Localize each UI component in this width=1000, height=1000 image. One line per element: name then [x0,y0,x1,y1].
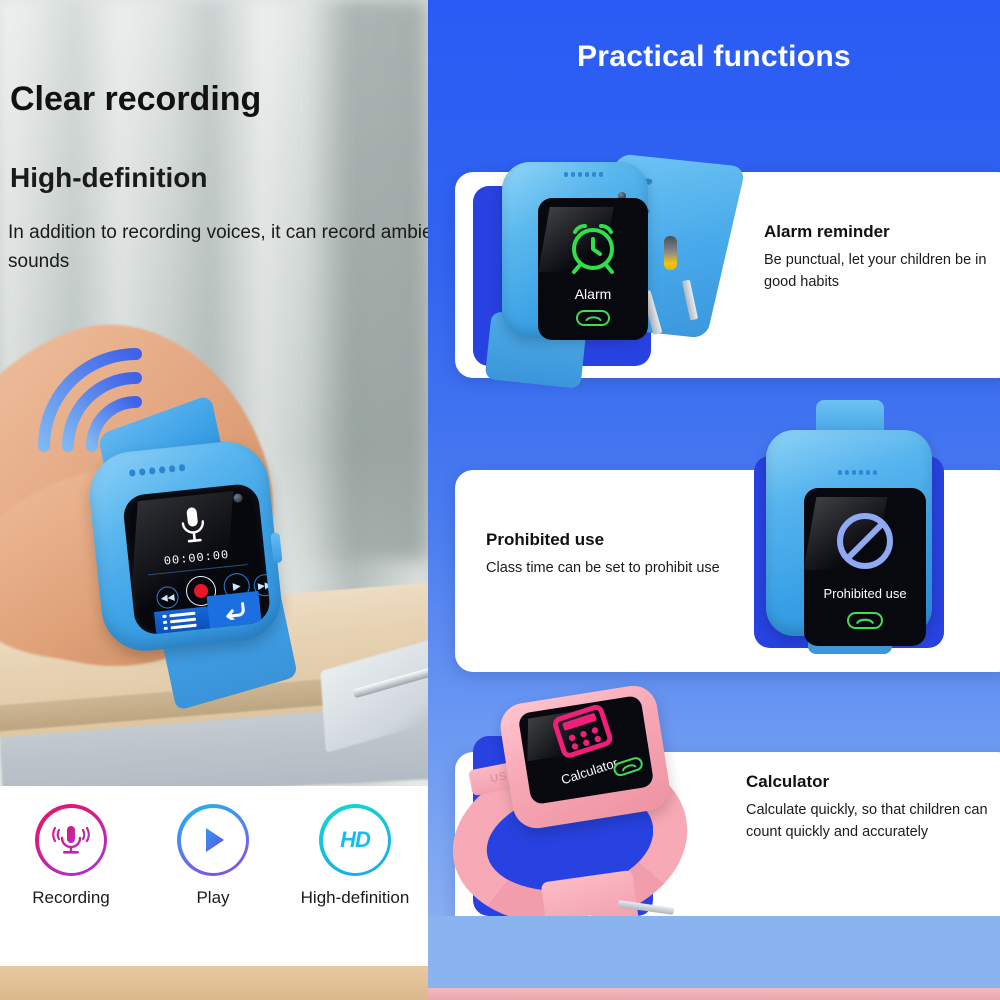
feature-high-definition[interactable]: HD High-definition [284,804,426,908]
feature-play[interactable]: Play [142,804,284,908]
watch-calculator: USB [436,690,716,950]
card-title: Calculator [746,772,1000,792]
feature-icon-list: Recording [0,804,428,954]
wall-shadow [308,0,428,560]
page-body-text: In addition to recording voices, it can … [8,218,428,277]
practical-functions-title: Practical functions [428,40,1000,74]
watch-lug-top [816,400,884,434]
watch-case: Alarm [502,162,648,338]
page-title: Clear recording [10,80,261,119]
watch-screen-label: Alarm [538,286,648,302]
watch-screen-alarm[interactable]: Alarm [538,198,648,340]
card-description: Calculate quickly, so that children can … [746,800,1000,844]
bottom-pink-strip [428,988,1000,1000]
card-description: Class time can be set to prohibit use [486,558,726,580]
feature-label: High-definition [284,888,426,908]
watch-screen-recording[interactable]: 00:00:00 ◀◀ ▶ ▶▶ [122,483,272,636]
watch-alarm: Alarm [480,140,710,378]
wrist-watch-recording: 00:00:00 ◀◀ ▶ ▶▶ [70,408,307,698]
speaker-grille-icon [129,463,191,476]
hd-icon: HD [319,804,391,876]
right-panel-practical-functions: Practical functions [428,0,1000,1000]
watch-prohibited: Prohibited use [750,396,950,652]
card-text-prohibited-use: Prohibited use Class time can be set to … [486,530,726,580]
previous-track-icon[interactable]: ◀◀ [155,585,179,609]
phone-call-icon[interactable] [847,612,883,629]
feature-icon-strip: Recording [0,786,428,966]
feature-recording[interactable]: Recording [0,804,142,908]
camera-icon [233,493,243,503]
card-description: Be punctual, let your children be in goo… [764,250,1000,294]
watch-side-button[interactable] [270,532,282,563]
speaker-grille-icon [564,172,603,177]
card-text-calculator: Calculator Calculate quickly, so that ch… [746,772,1000,844]
microphone-icon [177,504,210,552]
page-subtitle: High-definition [10,162,208,194]
watch-case: 00:00:00 ◀◀ ▶ ▶▶ [85,437,285,655]
watch-screen-label: Prohibited use [804,586,926,601]
hd-badge-text: HD [340,827,370,853]
microphone-recording-icon [35,804,107,876]
watch-case: Prohibited use [766,430,932,636]
bottom-wood-strip [0,966,428,1000]
back-arrow-icon[interactable] [207,591,262,630]
lifestyle-photo: 00:00:00 ◀◀ ▶ ▶▶ [0,0,428,786]
watch-screen-prohibited[interactable]: Prohibited use [804,488,926,646]
card-title: Alarm reminder [764,222,1000,242]
watch-screen-calculator[interactable]: Calculator [518,695,655,805]
left-panel-clear-recording: 00:00:00 ◀◀ ▶ ▶▶ [0,0,428,1000]
prohibition-sign-icon [834,510,896,577]
card-text-alarm: Alarm reminder Be punctual, let your chi… [764,222,1000,294]
speaker-grille-icon [838,470,877,475]
watch-crown-button[interactable] [664,236,677,270]
feature-label: Recording [0,888,142,908]
card-title: Prohibited use [486,530,726,550]
feature-label: Play [142,888,284,908]
alarm-clock-icon [562,214,624,281]
product-feature-page: 00:00:00 ◀◀ ▶ ▶▶ [0,0,1000,1000]
phone-call-icon[interactable] [576,310,610,326]
play-icon [177,804,249,876]
